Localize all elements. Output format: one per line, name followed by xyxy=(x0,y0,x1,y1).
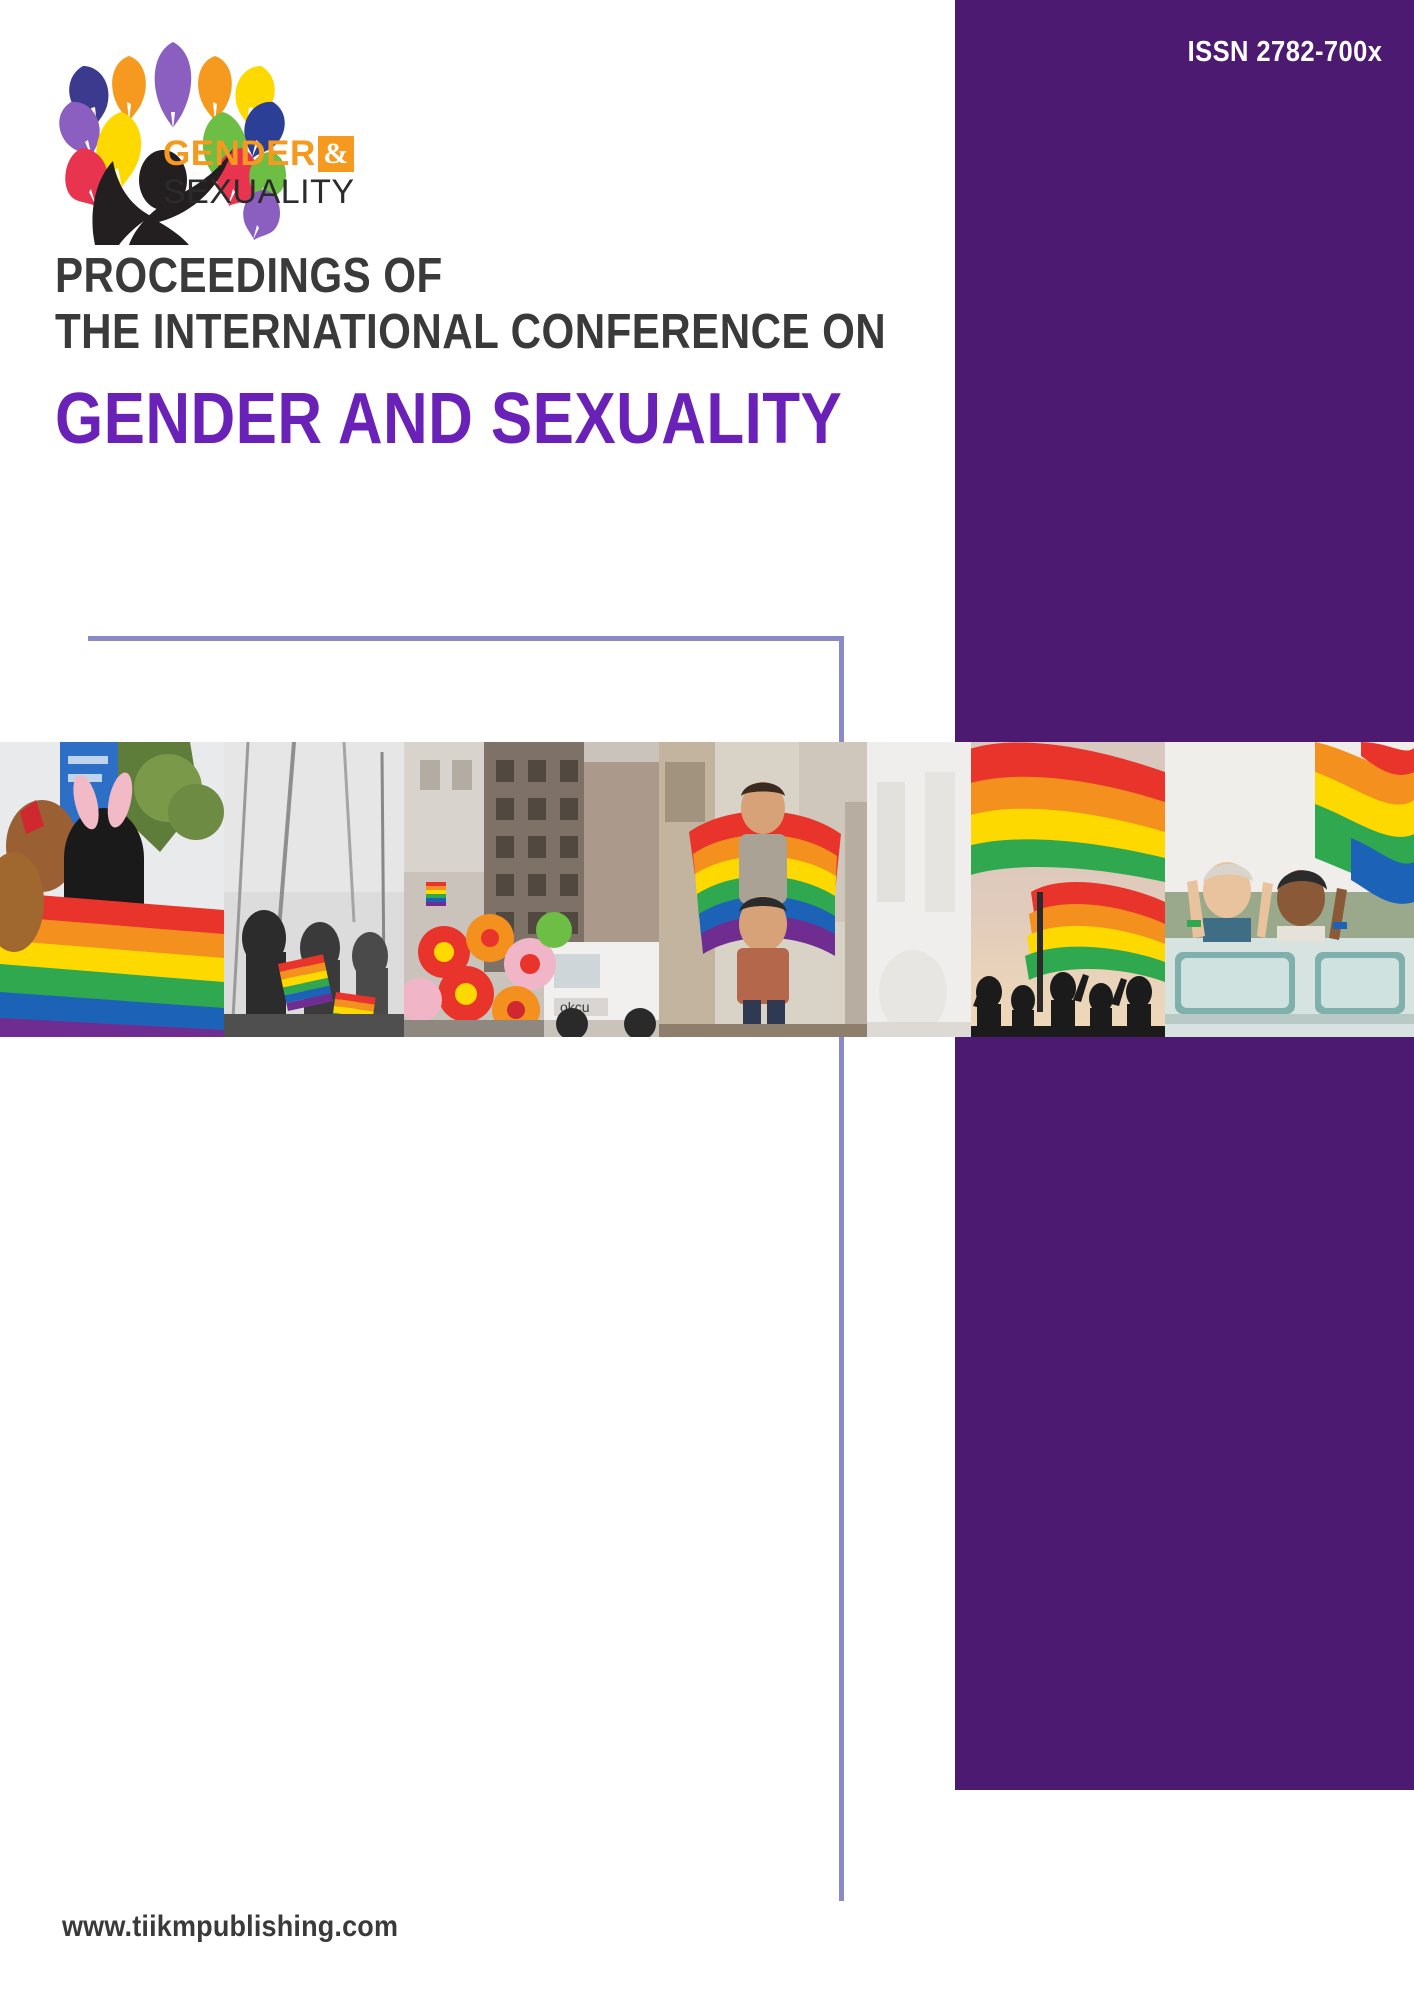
photo-pride-crowd-rainbow-cape xyxy=(0,742,224,1037)
photo-van-celebration xyxy=(1165,742,1414,1037)
photo-flag-sunset-crowd xyxy=(971,742,1165,1037)
photo-couple-rainbow-flag xyxy=(659,742,867,1037)
title-line-1: PROCEEDINGS OF xyxy=(55,248,726,304)
title-line-2: THE INTERNATIONAL CONFERENCE ON xyxy=(55,304,726,360)
tiikm-globe-icon xyxy=(1000,1810,1096,1906)
photo-pride-march-monochrome xyxy=(224,742,404,1037)
horizontal-rule xyxy=(88,636,844,641)
title-main: GENDER AND SEXUALITY xyxy=(55,376,726,462)
tiikm-brand: TIIKM xyxy=(1000,1810,1320,1906)
logo-wordmark: GENDER & SEXUALITY xyxy=(163,135,363,210)
logo-ampersand: & xyxy=(318,136,354,172)
logo-line-gender: GENDER & xyxy=(163,135,363,173)
gender-and-sexuality-logo: GENDER & SEXUALITY xyxy=(55,30,355,245)
logo-word-gender: GENDER xyxy=(163,136,316,172)
website-url[interactable]: www.tiikmpublishing.com xyxy=(62,1910,398,1944)
logo-word-sexuality: SEXUALITY xyxy=(163,174,363,210)
photo-building-facade xyxy=(867,742,971,1037)
tiikm-wordmark: TIIKM xyxy=(1118,1820,1320,1896)
issn-label: ISSN 2782-700x xyxy=(1187,36,1382,69)
photo-strip: okcu xyxy=(0,742,1414,1037)
page-title: PROCEEDINGS OF THE INTERNATIONAL CONFERE… xyxy=(55,248,835,462)
photo-parade-float-flowers: okcu xyxy=(404,742,659,1037)
